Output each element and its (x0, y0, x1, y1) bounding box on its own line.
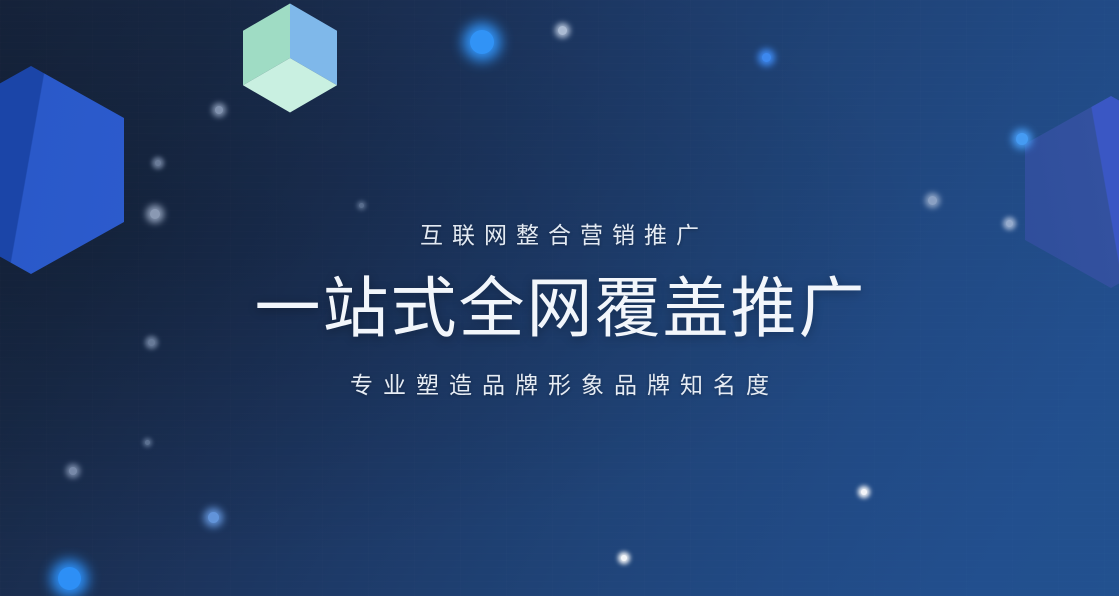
particle-6 (215, 106, 223, 114)
particle-17 (359, 203, 364, 208)
particle-8 (150, 209, 160, 219)
particle-2 (558, 26, 567, 35)
hero-banner: 互联网整合营销推广 一站式全网覆盖推广 专业塑造品牌形象品牌知名度 (0, 0, 1119, 596)
particle-11 (208, 512, 219, 523)
isometric-cube-logo (243, 3, 337, 113)
particle-12 (58, 567, 81, 590)
particle-14 (861, 489, 867, 495)
particle-1 (470, 30, 494, 54)
hero-headline: 一站式全网覆盖推广 (0, 273, 1119, 344)
particle-4 (1016, 133, 1028, 145)
particle-7 (155, 160, 161, 166)
particle-3 (762, 53, 771, 62)
particle-10 (69, 467, 77, 475)
particle-13 (621, 555, 627, 561)
hero-subline: 专业塑造品牌形象品牌知名度 (0, 372, 1119, 400)
hero-tagline: 互联网整合营销推广 (0, 222, 1119, 250)
particle-16 (145, 440, 150, 445)
particle-5 (928, 196, 937, 205)
hero-copy: 互联网整合营销推广 一站式全网覆盖推广 专业塑造品牌形象品牌知名度 (0, 222, 1119, 399)
